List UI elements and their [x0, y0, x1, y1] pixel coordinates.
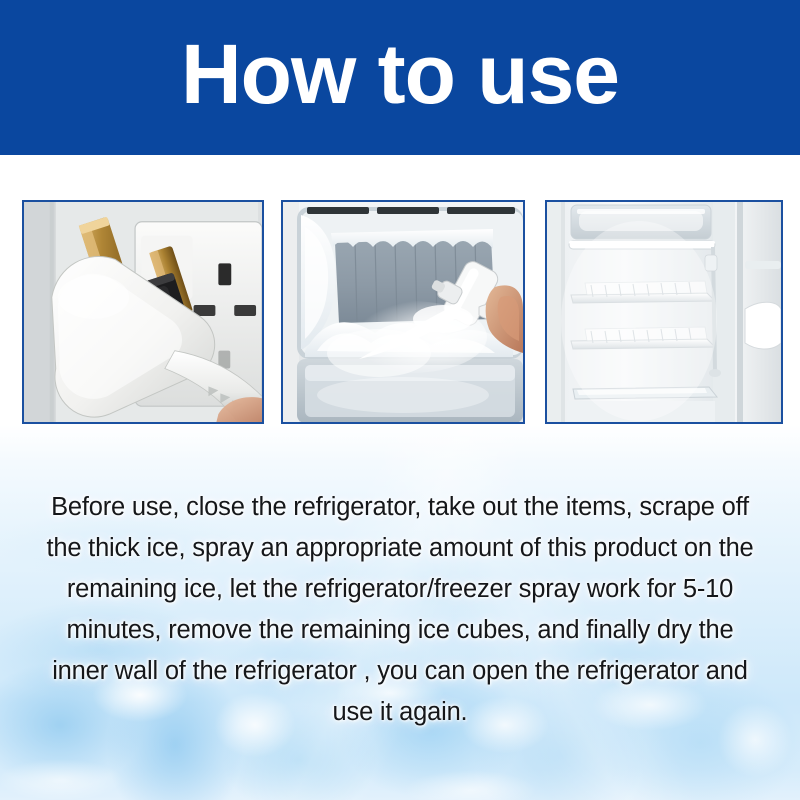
header-banner: How to use — [0, 0, 800, 155]
refrigerator-interior-illustration — [547, 202, 781, 422]
photo-spray-iced-freezer — [281, 200, 525, 424]
photo-strip — [0, 200, 800, 428]
freezer-spray-illustration — [283, 202, 523, 422]
photo-unplug-refrigerator — [22, 200, 264, 424]
instruction-paragraph: Before use, close the refrigerator, take… — [40, 487, 760, 733]
page-title: How to use — [181, 32, 619, 116]
plug-and-socket-illustration — [24, 202, 262, 422]
photo-clean-refrigerator-interior — [545, 200, 783, 424]
how-to-use-infographic: How to use — [0, 0, 800, 800]
